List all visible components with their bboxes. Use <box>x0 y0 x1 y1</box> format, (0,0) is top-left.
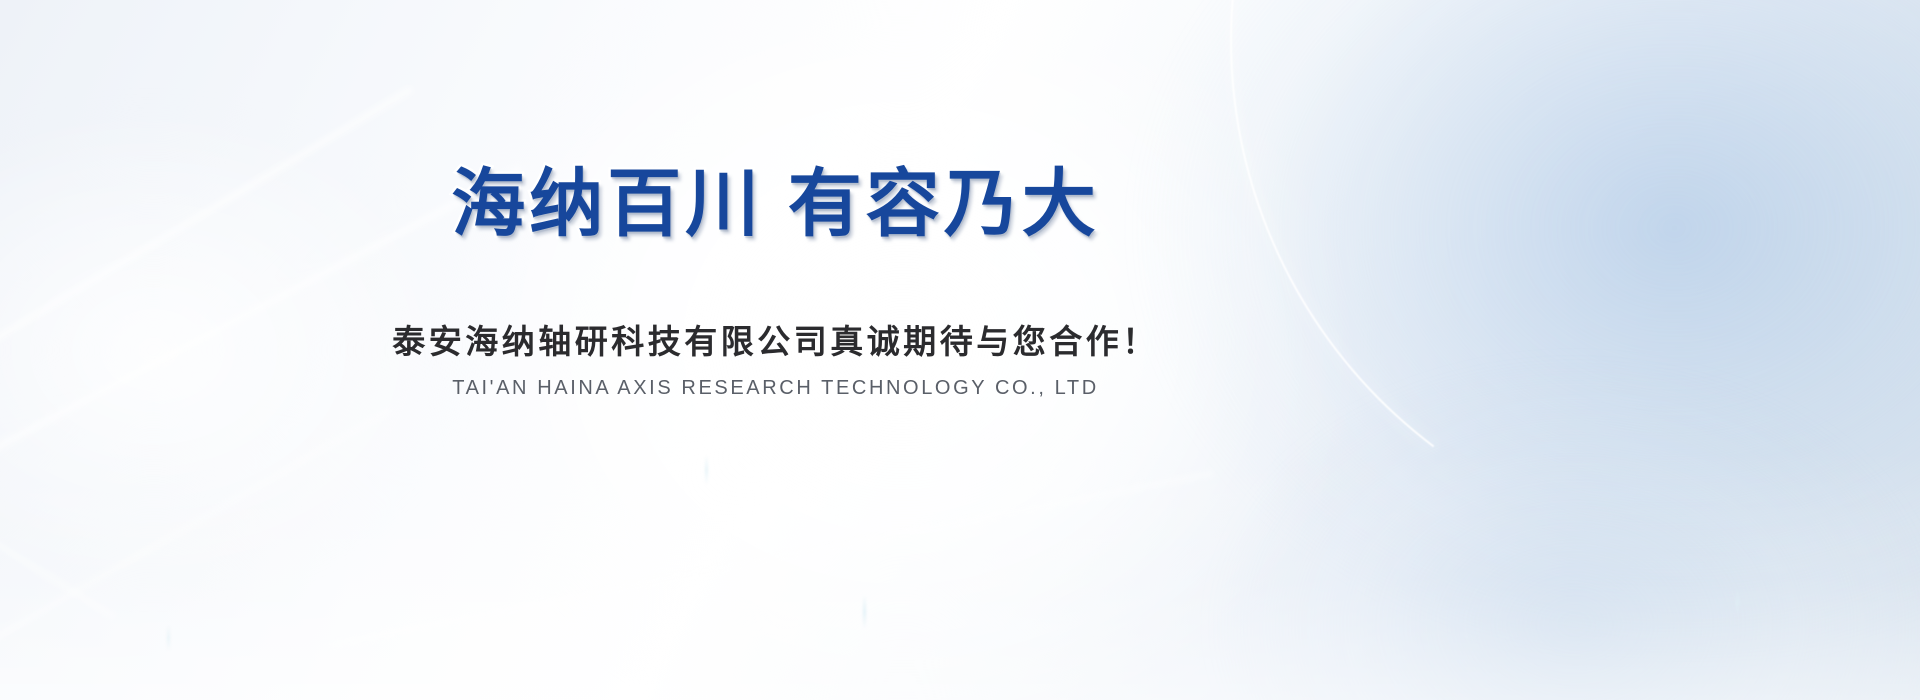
banner-subtitle-english: TAI'AN HAINA AXIS RESEARCH TECHNOLOGY CO… <box>452 377 1099 400</box>
hero-banner: 海纳百川 有容乃大 泰安海纳轴研科技有限公司真诚期待与您合作！ TAI'AN H… <box>0 0 1920 700</box>
banner-subtitle-chinese: 泰安海纳轴研科技有限公司真诚期待与您合作！ <box>392 315 1159 363</box>
banner-headline: 海纳百川 有容乃大 <box>451 165 1100 243</box>
banner-text-block: 海纳百川 有容乃大 泰安海纳轴研科技有限公司真诚期待与您合作！ TAI'AN H… <box>0 0 1551 700</box>
